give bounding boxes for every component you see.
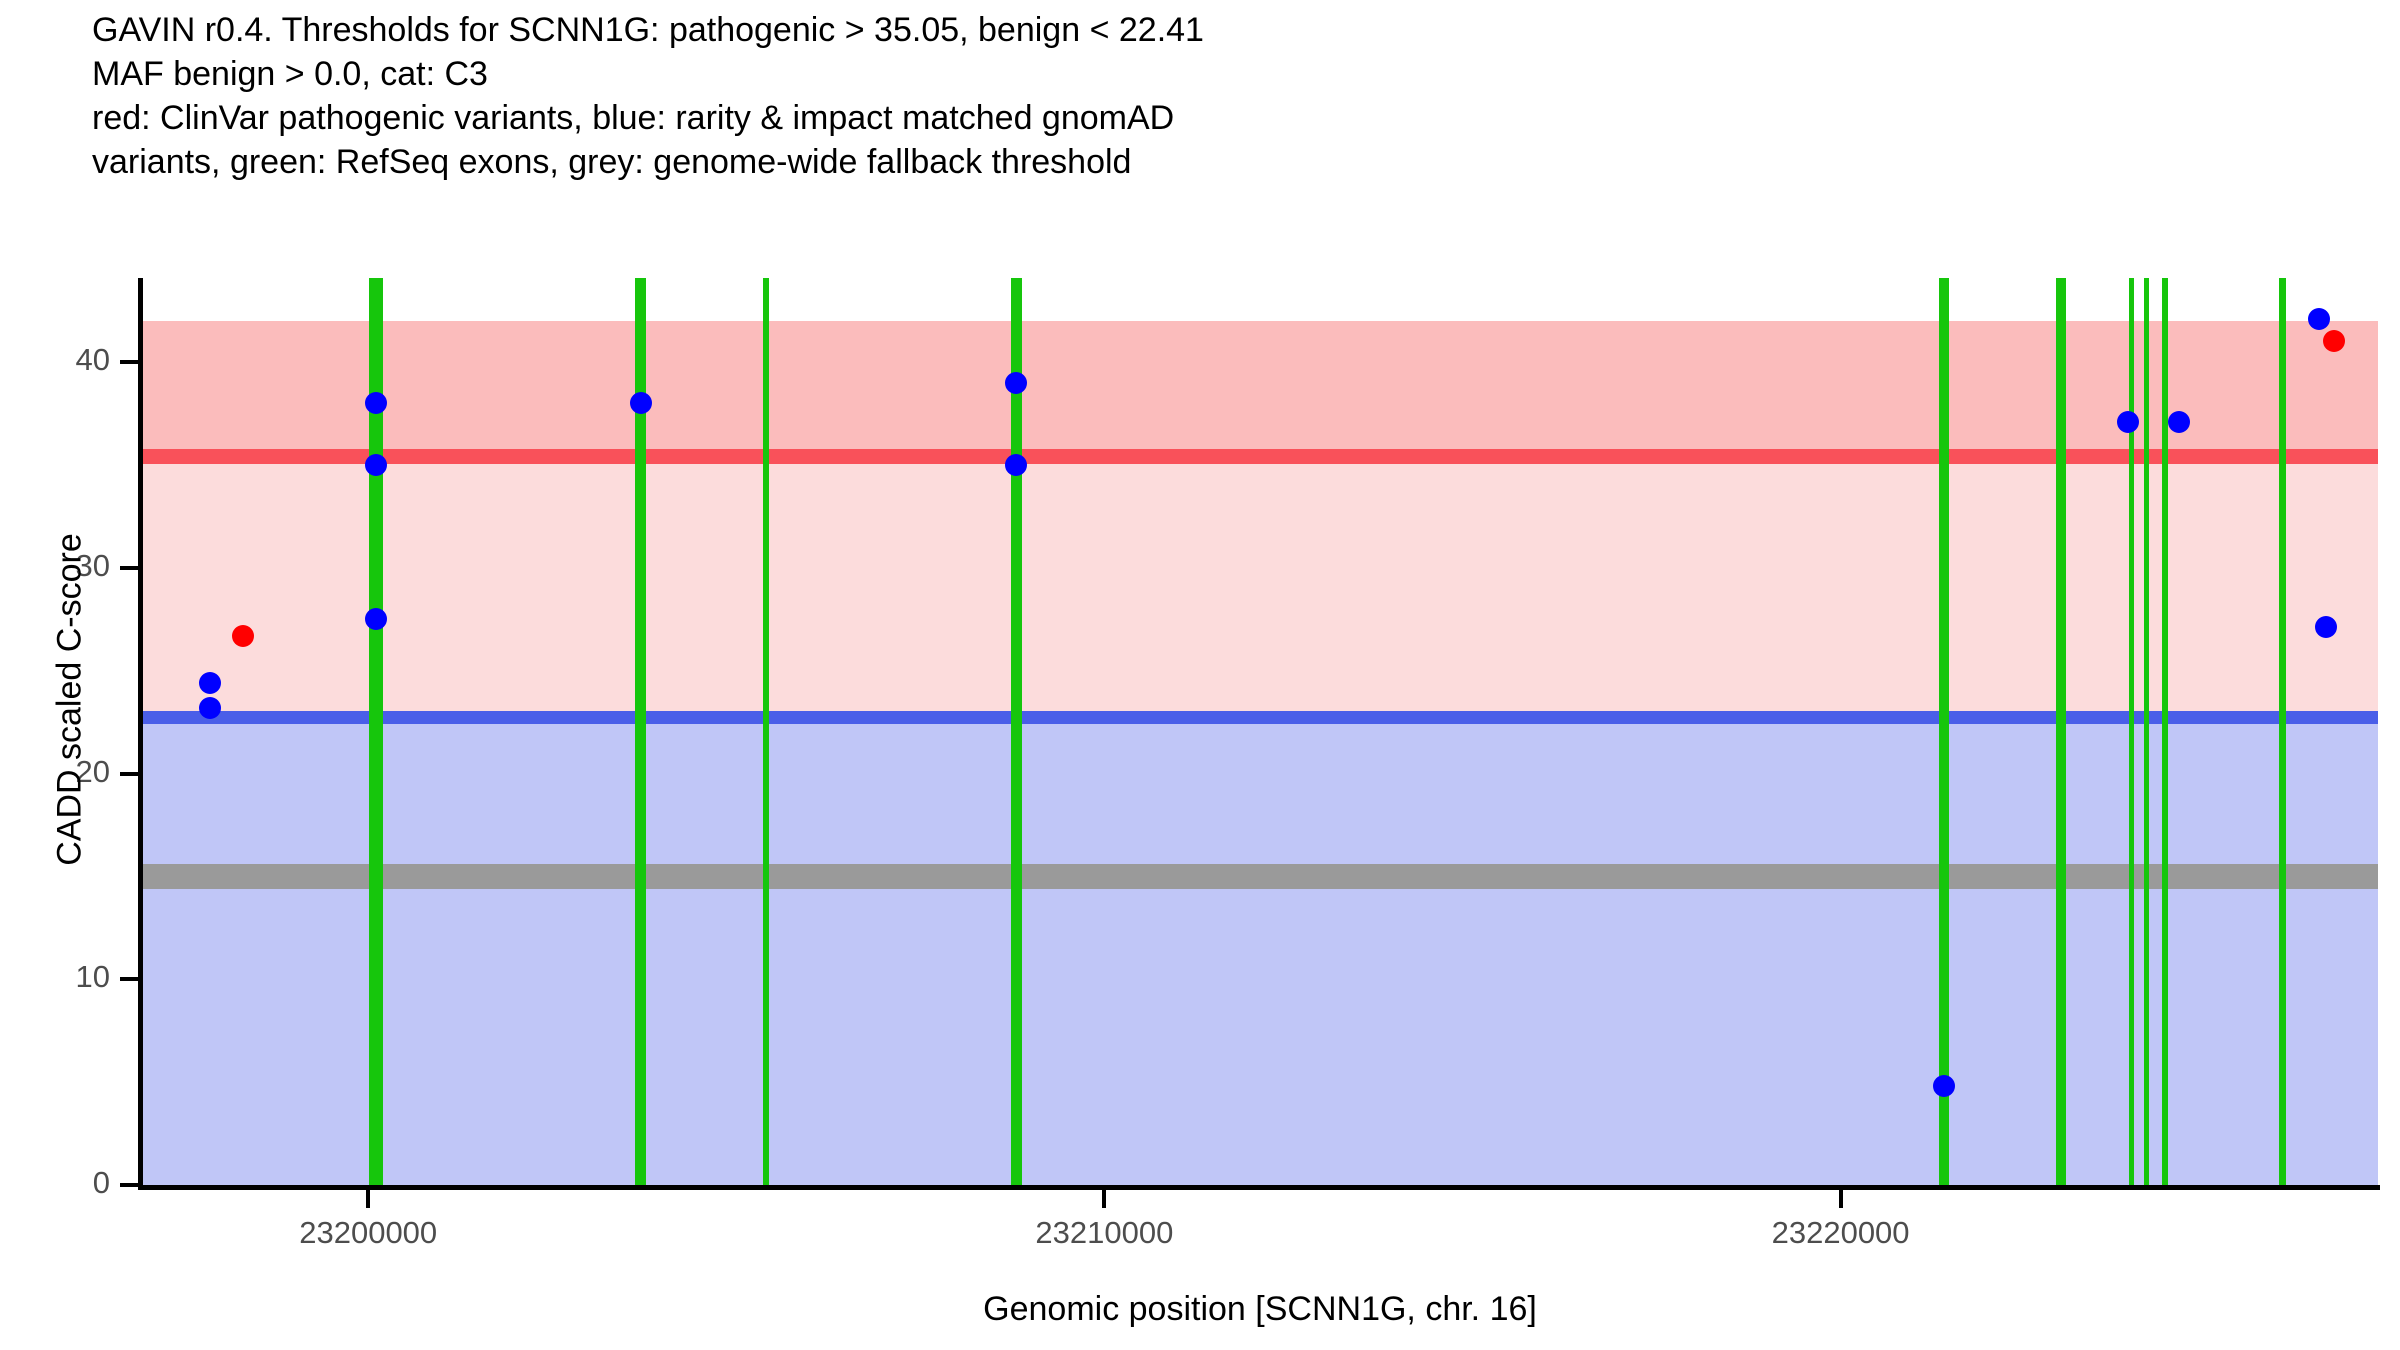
refseq-exon-line xyxy=(763,278,769,1185)
y-tick-label: 0 xyxy=(0,1165,110,1201)
y-tick-mark xyxy=(120,977,138,981)
gavin-cadd-scatter-figure: GAVIN r0.4. Thresholds for SCNN1G: patho… xyxy=(0,0,2400,1350)
gnomad-variant-point xyxy=(2315,616,2337,638)
figure-title-block: GAVIN r0.4. Thresholds for SCNN1G: patho… xyxy=(92,8,2092,184)
gnomad-variant-point xyxy=(2168,411,2190,433)
x-tick-mark xyxy=(1839,1190,1843,1208)
y-tick-mark xyxy=(120,1183,138,1187)
gnomad-variant-point xyxy=(365,608,387,630)
gnomad-variant-point xyxy=(365,392,387,414)
refseq-exon-line xyxy=(2162,278,2168,1185)
refseq-exon-line xyxy=(1011,278,1022,1185)
gnomad-variant-point xyxy=(2308,308,2330,330)
y-axis-line xyxy=(138,278,143,1188)
gnomad-variant-point xyxy=(630,392,652,414)
x-tick-mark xyxy=(366,1190,370,1208)
title-line-4: variants, green: RefSeq exons, grey: gen… xyxy=(92,140,2092,184)
x-axis-title: Genomic position [SCNN1G, chr. 16] xyxy=(140,1290,2380,1329)
band-vous-zone xyxy=(140,464,2378,724)
y-axis-title: CADD scaled C-score xyxy=(51,350,90,1050)
gnomad-variant-point xyxy=(1005,372,1027,394)
y-tick-mark xyxy=(120,360,138,364)
x-tick-label: 23200000 xyxy=(198,1215,538,1251)
y-tick-mark xyxy=(120,566,138,570)
refseq-exon-line xyxy=(2056,278,2066,1185)
title-line-1: GAVIN r0.4. Thresholds for SCNN1G: patho… xyxy=(92,8,2092,52)
band-pathogenic-zone xyxy=(140,321,2378,464)
gnomad-variant-point xyxy=(365,454,387,476)
clinvar-pathogenic-point xyxy=(2323,330,2345,352)
gnomad-variant-point xyxy=(199,697,221,719)
gnomad-variant-point xyxy=(199,672,221,694)
gnomad-variant-point xyxy=(1005,454,1027,476)
refseq-exon-line xyxy=(2144,278,2149,1185)
y-tick-mark xyxy=(120,772,138,776)
gnomad-variant-point xyxy=(1933,1075,1955,1097)
refseq-exon-line xyxy=(1939,278,1949,1185)
title-line-3: red: ClinVar pathogenic variants, blue: … xyxy=(92,96,2092,140)
plot-area xyxy=(140,278,2378,1185)
refseq-exon-line xyxy=(2279,278,2286,1185)
plot-panel xyxy=(140,278,2378,1185)
band-benign-zone xyxy=(140,724,2378,1185)
clinvar-pathogenic-point xyxy=(232,625,254,647)
x-tick-label: 23210000 xyxy=(934,1215,1274,1251)
gnomad-variant-point xyxy=(2117,411,2139,433)
title-line-2: MAF benign > 0.0, cat: C3 xyxy=(92,52,2092,96)
x-tick-label: 23220000 xyxy=(1671,1215,2011,1251)
x-axis-line xyxy=(138,1185,2380,1190)
x-tick-mark xyxy=(1102,1190,1106,1208)
band-fallback-threshold-line xyxy=(140,864,2378,889)
